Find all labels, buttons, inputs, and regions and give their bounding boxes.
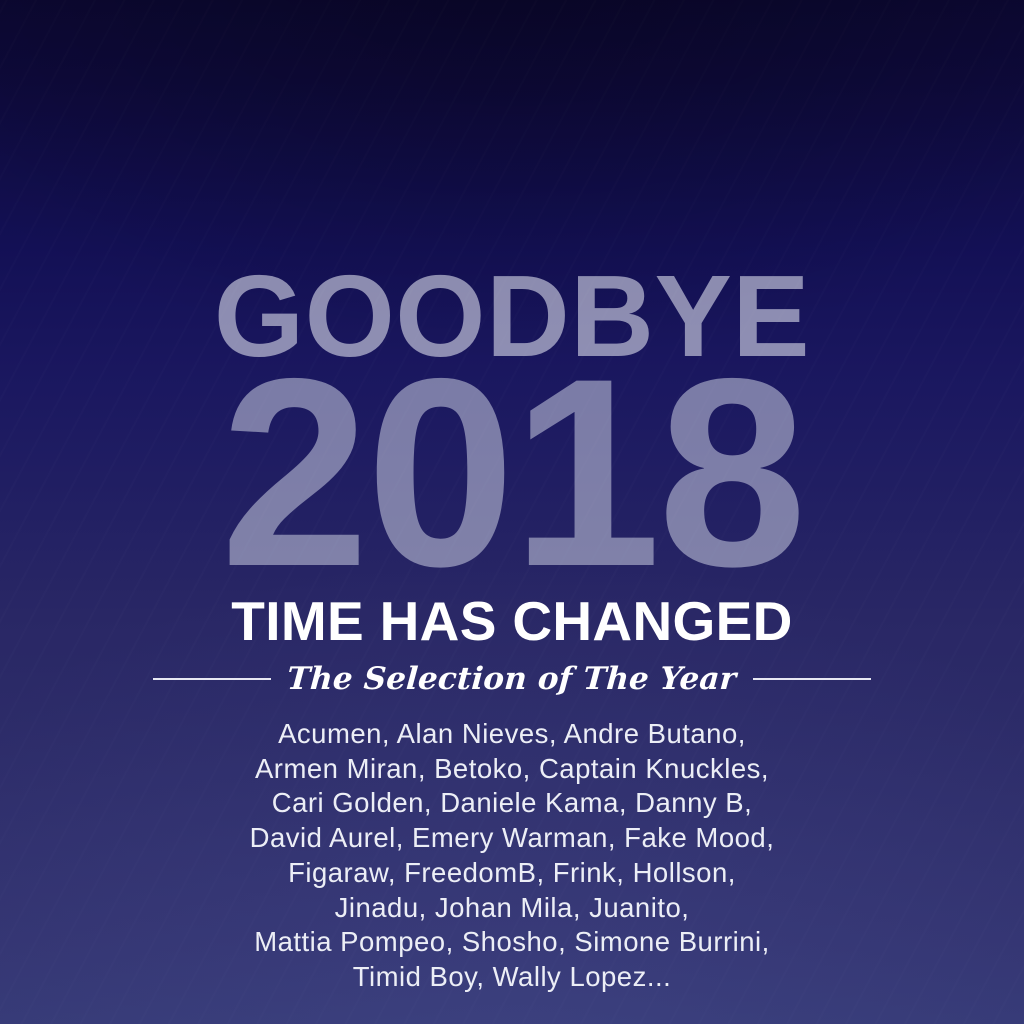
artist-list-line: Acumen, Alan Nieves, Andre Butano, bbox=[250, 717, 775, 752]
artist-list-line: Cari Golden, Daniele Kama, Danny B, bbox=[250, 786, 775, 821]
rule-right bbox=[753, 678, 871, 680]
tagline-time-has-changed: TIME HAS CHANGED bbox=[231, 594, 792, 649]
artist-list-line: Timid Boy, Wally Lopez... bbox=[250, 960, 775, 995]
script-subtitle-row: The Selection of The Year bbox=[0, 664, 1024, 695]
cover-content: GOODBYE 2018 TIME HAS CHANGED The Select… bbox=[0, 0, 1024, 1024]
title-year: 2018 bbox=[220, 373, 803, 571]
artist-list-line: Mattia Pompeo, Shosho, Simone Burrini, bbox=[250, 925, 775, 960]
artist-list-line: David Aurel, Emery Warman, Fake Mood, bbox=[250, 821, 775, 856]
album-cover-artwork: GOODBYE 2018 TIME HAS CHANGED The Select… bbox=[0, 0, 1024, 1024]
artist-list: Acumen, Alan Nieves, Andre Butano, Armen… bbox=[250, 717, 775, 995]
artist-list-line: Jinadu, Johan Mila, Juanito, bbox=[250, 891, 775, 926]
script-subtitle: The Selection of The Year bbox=[286, 664, 737, 695]
rule-left bbox=[153, 678, 271, 680]
artist-list-line: Armen Miran, Betoko, Captain Knuckles, bbox=[250, 752, 775, 787]
artist-list-line: Figaraw, FreedomB, Frink, Hollson, bbox=[250, 856, 775, 891]
